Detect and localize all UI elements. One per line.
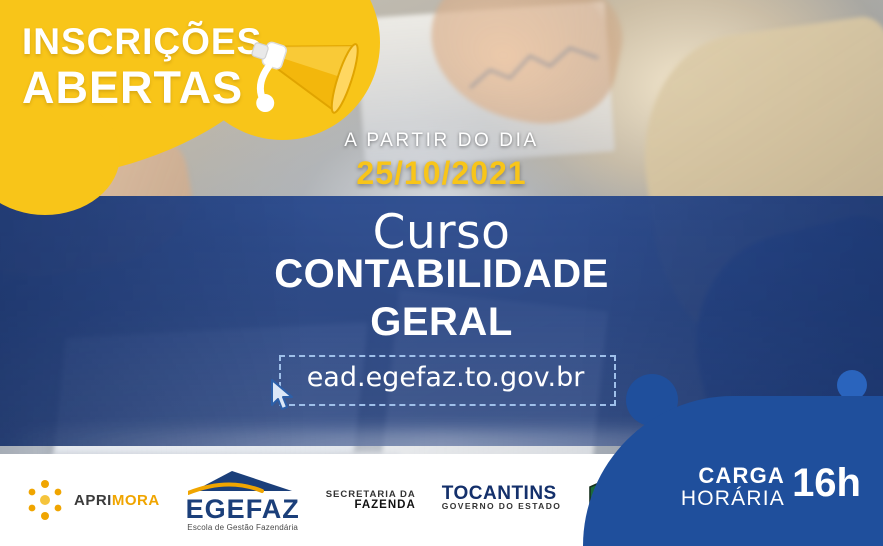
tocantins-governo-logo: TOCANTINS GOVERNO DO ESTADO [442, 487, 562, 513]
dots-cluster-icon [22, 477, 68, 523]
tocantins-line2: GOVERNO DO ESTADO [442, 500, 562, 513]
course-title: CONTABILIDADE GERAL [0, 250, 883, 346]
secretaria-line2: FAZENDA [326, 500, 416, 511]
egefaz-subtitle: Escola de Gestão Fazendária [187, 523, 298, 532]
start-date-value: 25/10/2021 [0, 155, 883, 192]
footer-logos: APRIMORA EGEFAZ Escola de Gestão Fazendá… [0, 454, 640, 546]
aprimora-logo: APRIMORA [22, 477, 160, 523]
enrollment-badge-text: INSCRIÇÕES ABERTAS [22, 22, 262, 112]
course-title-line1: CONTABILIDADE [0, 250, 883, 298]
aprimora-text-light: APRI [74, 492, 112, 509]
date-prefix-label: A PARTIR DO DIA [0, 130, 883, 152]
egefaz-logo: EGEFAZ Escola de Gestão Fazendária [186, 469, 300, 532]
enrollment-badge-line1: INSCRIÇÕES [22, 22, 262, 62]
background-chart-line [470, 40, 600, 100]
workload-line1: CARGA [681, 464, 785, 487]
mouse-pointer-icon [268, 378, 298, 414]
aprimora-wordmark: APRIMORA [74, 492, 160, 509]
workload-line2: HORÁRIA [681, 487, 785, 510]
course-title-line2: GERAL [0, 298, 883, 346]
course-promo-banner: INSCRIÇÕES ABERTAS A PARTIR DO DIA 25/10… [0, 0, 883, 546]
workload-hours: 16h [792, 461, 861, 506]
aprimora-text-bold: MORA [112, 492, 160, 509]
egefaz-wordmark: EGEFAZ [186, 495, 300, 523]
enrollment-badge-line2: ABERTAS [22, 64, 262, 112]
enrollment-url[interactable]: ead.egefaz.to.gov.br [279, 362, 612, 393]
tocantins-line1: TOCANTINS [442, 487, 562, 500]
mountain-swoosh-icon [188, 469, 298, 495]
megaphone-icon [245, 28, 375, 143]
workload-label: CARGA HORÁRIA [681, 464, 785, 510]
secretaria-fazenda-logo: SECRETARIA DA FAZENDA [326, 489, 416, 511]
